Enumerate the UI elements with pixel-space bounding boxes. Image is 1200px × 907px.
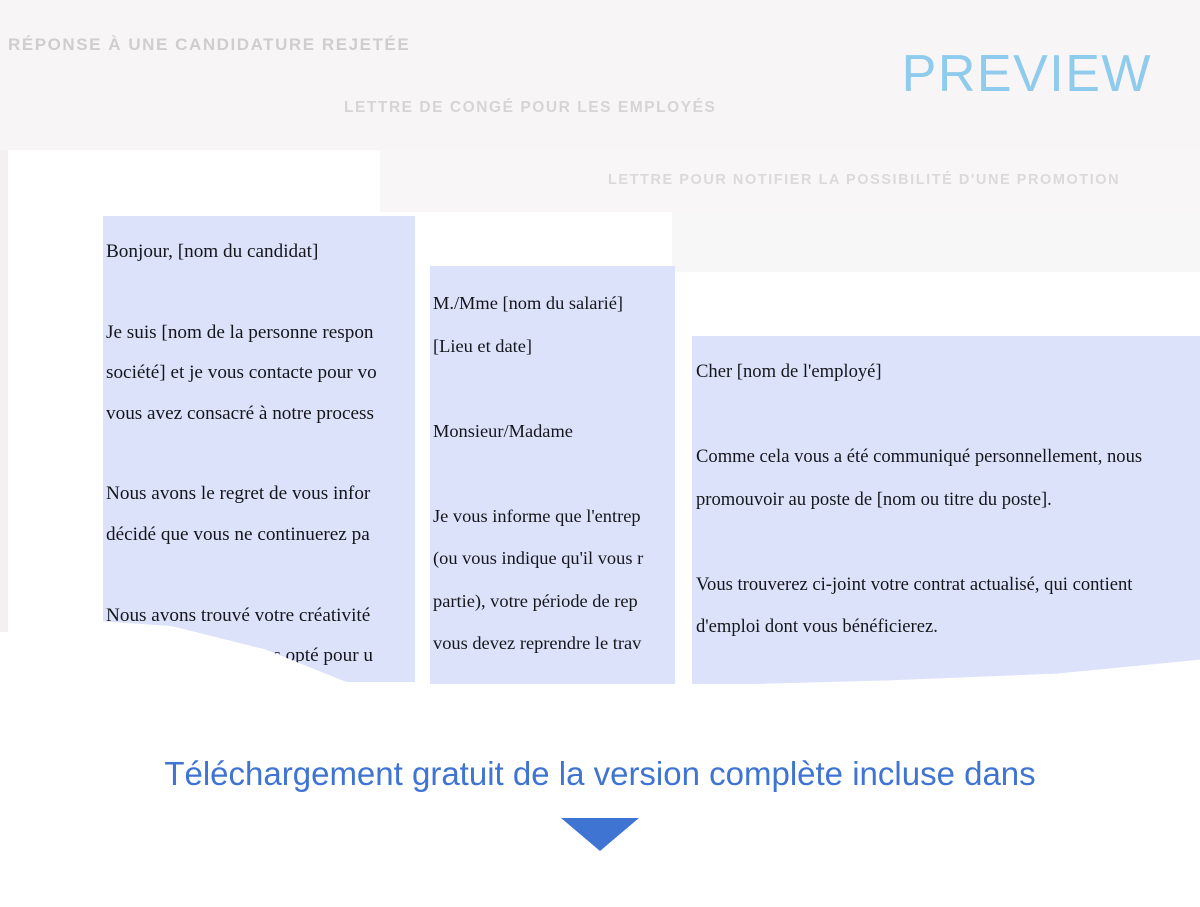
letter-line: promouvoir au poste de [nom ou titre du … — [696, 479, 1200, 522]
letter-line: Je vous informe que l'entrep — [433, 495, 675, 538]
letter-line: Bonjour, [nom du candidat] — [106, 232, 415, 272]
section-title-rejected-application: RÉPONSE À UNE CANDIDATURE REJETÉE — [8, 35, 410, 55]
letter-line — [696, 394, 1200, 437]
preview-watermark: PREVIEW — [902, 44, 1152, 104]
letter-line — [106, 272, 415, 312]
letter-body-rejected-application: Bonjour, [nom du candidat] Je suis [nom … — [103, 216, 415, 682]
letter-body-employee-leave: M./Mme [nom du salarié] [Lieu et date] M… — [430, 266, 675, 684]
letter-line — [696, 521, 1200, 564]
download-arrow-container[interactable] — [0, 818, 1200, 856]
letter-line — [106, 555, 415, 595]
letter-line: d'emploi dont vous bénéficierez. — [696, 606, 1200, 649]
letter-line: Je suis [nom de la personne respon — [106, 313, 415, 353]
letter-line: vous avez consacré à notre process — [106, 394, 415, 434]
section-title-employee-leave: LETTRE DE CONGÉ POUR LES EMPLOYÉS — [344, 99, 716, 117]
chevron-down-triangle-icon[interactable] — [561, 818, 639, 851]
letter-line: Cher [nom de l'employé] — [696, 351, 1200, 394]
letter-line: (ou vous indique qu'il vous r — [433, 537, 675, 580]
letter-line: décidé que vous ne continuerez pa — [106, 515, 415, 555]
letter-line — [433, 367, 675, 410]
letter-line: M./Mme [nom du salarié] — [433, 282, 675, 325]
letter-line: de compte, nous avons opté pour u — [106, 636, 415, 676]
letter-line — [433, 452, 675, 495]
letter-line: caractéristiques du poste à pourvo — [106, 676, 415, 682]
letter-body-promotion: Cher [nom de l'employé] Comme cela vous … — [692, 336, 1200, 684]
section-title-promotion: LETTRE POUR NOTIFIER LA POSSIBILITÉ D'UN… — [608, 172, 1120, 188]
letter-line: partie), votre période de rep — [433, 580, 675, 623]
letter-line — [433, 665, 675, 685]
letter-line: [Lieu et date] — [433, 325, 675, 368]
slide-canvas: RÉPONSE À UNE CANDIDATURE REJETÉE LETTRE… — [0, 0, 1200, 907]
background-plate-left — [0, 150, 8, 632]
letter-line: Comme cela vous a été communiqué personn… — [696, 436, 1200, 479]
letter-line: Monsieur/Madame — [433, 410, 675, 453]
letter-line: Nous avons le regret de vous infor — [106, 474, 415, 514]
letter-line: Vous trouverez ci-joint votre contrat ac… — [696, 564, 1200, 607]
letter-line: société] et je vous contacte pour vo — [106, 353, 415, 393]
letter-line: vous devez reprendre le trav — [433, 622, 675, 665]
download-cta-text: Téléchargement gratuit de la version com… — [0, 755, 1200, 793]
letter-line — [106, 434, 415, 474]
